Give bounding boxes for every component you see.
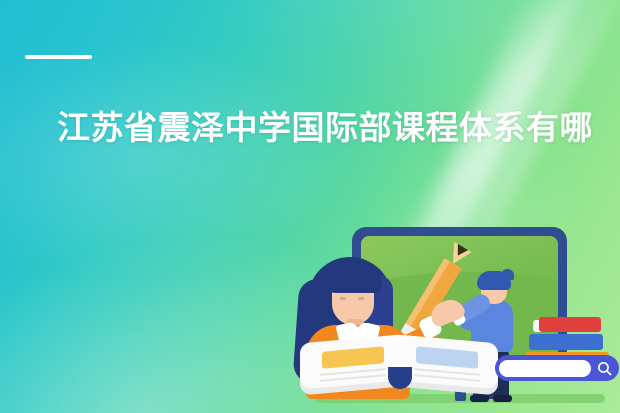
search-icon[interactable]	[595, 359, 614, 378]
woman-eye-right	[358, 297, 364, 300]
woman-eye-left	[340, 297, 346, 300]
page-title: 江苏省震泽中学国际部课程体系有哪	[57, 107, 620, 149]
search-bar[interactable]	[495, 355, 619, 381]
boy-shoe-right	[493, 395, 512, 402]
education-illustration	[295, 205, 620, 413]
book-middle	[529, 334, 603, 350]
woman-hair-fringe	[326, 265, 382, 293]
light-streak	[241, 0, 591, 119]
boy-shoe-left	[470, 395, 489, 402]
boy-hair-tuft	[501, 269, 514, 280]
title-rule-decoration	[25, 55, 92, 59]
search-input[interactable]	[499, 360, 591, 377]
article-cover-banner: 江苏省震泽中学国际部课程体系有哪	[0, 0, 620, 413]
open-book	[300, 333, 500, 395]
book-top	[539, 317, 601, 332]
